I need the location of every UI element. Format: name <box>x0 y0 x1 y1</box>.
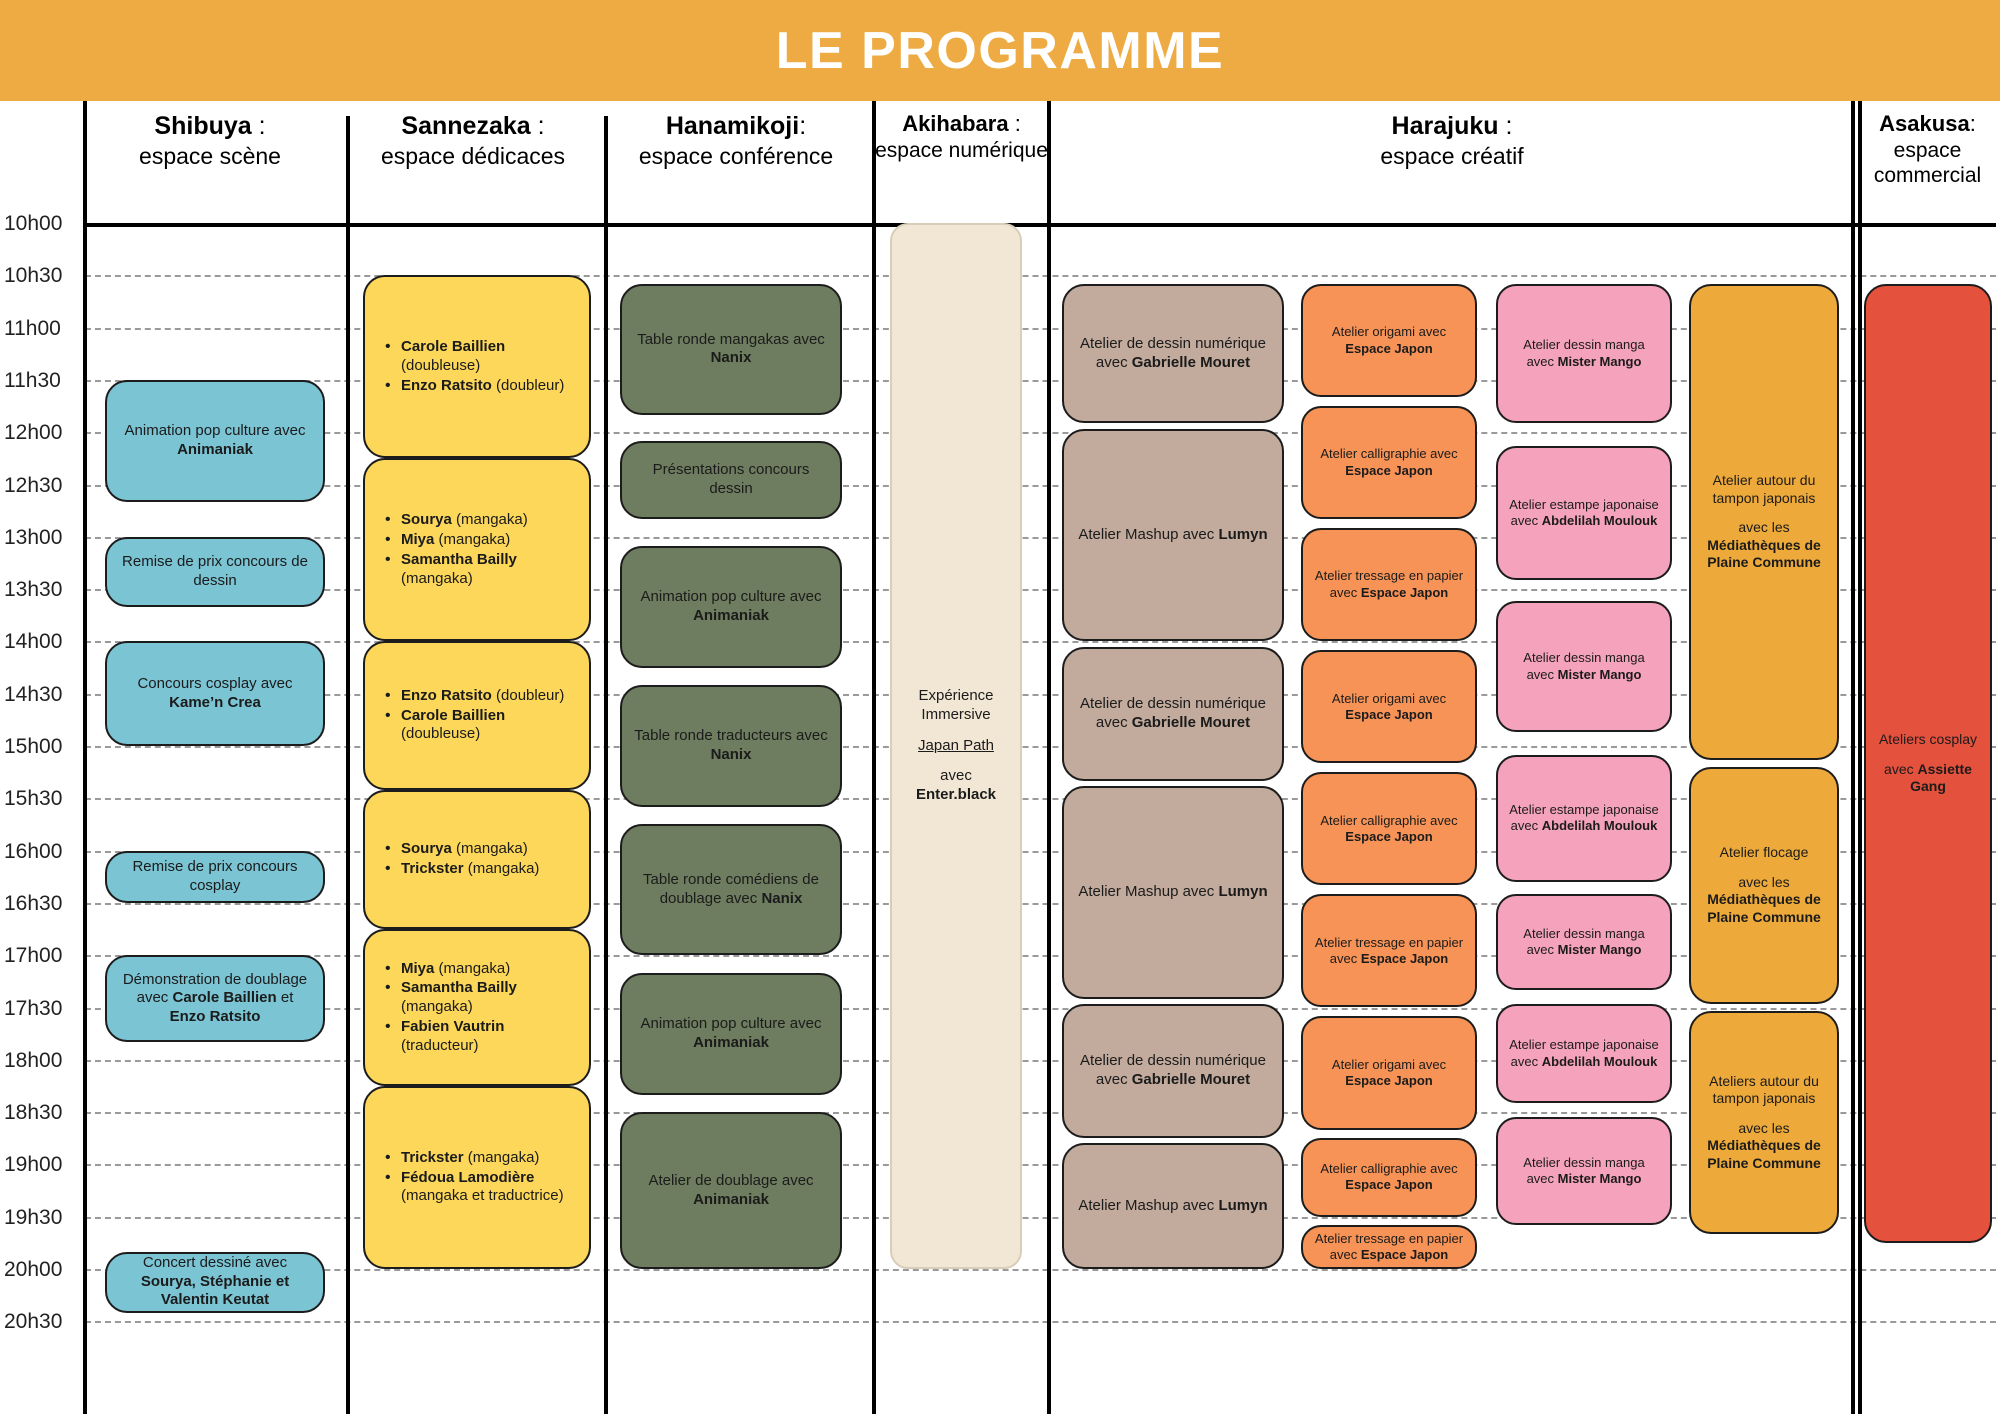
event-partner: Médiathèques de Plaine Commune <box>1701 537 1827 572</box>
guest-list: Miya (mangaka)Samantha Bailly (mangaka)F… <box>381 959 579 1057</box>
event-sannezaka-2[interactable]: Enzo Ratsito (doubleur)Carole Baillien (… <box>363 641 591 789</box>
list-item: Fédoua Lamodière(mangaka et traductrice) <box>381 1169 564 1207</box>
event-text: Atelier origami avec Espace Japon <box>1313 324 1465 357</box>
time-label-19h00: 19h00 <box>4 1153 82 1177</box>
gridline-10h30 <box>85 275 1996 277</box>
event-with: avec les <box>1738 874 1789 892</box>
event-hanamikoji-4[interactable]: Table ronde comédiens de doublage avec N… <box>620 824 842 955</box>
column-name-asakusa: Asakusa: <box>1879 111 1976 138</box>
event-sannezaka-4[interactable]: Miya (mangaka)Samantha Bailly (mangaka)F… <box>363 929 591 1086</box>
guest-list: Sourya (mangaka)Miya (mangaka)Samantha B… <box>381 510 579 589</box>
guest-list: Enzo Ratsito (doubleur)Carole Baillien (… <box>381 686 579 745</box>
guest-list: Sourya (mangaka)Trickster (mangaka) <box>381 839 539 880</box>
event-hanamikoji-2[interactable]: Animation pop culture avec Animaniak <box>620 546 842 668</box>
guest-list: Trickster (mangaka)Fédoua Lamodière(mang… <box>381 1148 564 1207</box>
event-harajuku-tampon-1[interactable]: Atelier flocageavec lesMédiathèques de P… <box>1689 767 1839 1004</box>
event-text: Table ronde traducteurs avec Nanix <box>632 727 830 765</box>
time-label-20h30: 20h30 <box>4 1310 82 1334</box>
time-label-18h00: 18h00 <box>4 1049 82 1073</box>
event-text: Atelier estampe japonaise avec Abdelilah… <box>1508 802 1660 835</box>
event-harajuku-espacejapon-1[interactable]: Atelier calligraphie avec Espace Japon <box>1301 406 1477 519</box>
time-label-19h30: 19h30 <box>4 1206 82 1230</box>
event-harajuku-manga-1[interactable]: Atelier estampe japonaise avec Abdelilah… <box>1496 446 1672 580</box>
event-text: Atelier dessin manga avec Mister Mango <box>1508 1155 1660 1188</box>
event-with: avec les <box>1738 1120 1789 1138</box>
column-header-asakusa: Asakusa:espace commercial <box>1855 101 2000 223</box>
event-sannezaka-3[interactable]: Sourya (mangaka)Trickster (mangaka) <box>363 790 591 929</box>
time-label-14h30: 14h30 <box>4 683 82 707</box>
event-harajuku-espacejapon-5[interactable]: Atelier tressage en papier avec Espace J… <box>1301 894 1477 1007</box>
column-subtitle-akihabara: espace numérique <box>875 138 1048 164</box>
time-label-15h00: 15h00 <box>4 735 82 759</box>
column-headers: Shibuya :espace scèneSannezaka :espace d… <box>0 101 2000 223</box>
event-hanamikoji-3[interactable]: Table ronde traducteurs avec Nanix <box>620 685 842 807</box>
event-harajuku-mashup-3[interactable]: Atelier Mashup avec Lumyn <box>1062 786 1284 999</box>
event-text: Atelier de dessin numérique avec Gabriel… <box>1074 1052 1272 1090</box>
event-text: Démonstration de doublage avec Carole Ba… <box>117 971 313 1027</box>
event-text: Atelier calligraphie avec Espace Japon <box>1313 1161 1465 1194</box>
event-text: Présentations concours dessin <box>632 461 830 499</box>
time-label-11h30: 11h30 <box>4 369 82 393</box>
column-header-sannezaka: Sannezaka :espace dédicaces <box>348 101 598 223</box>
event-sannezaka-0[interactable]: Carole Baillien (doubleuse)Enzo Ratsito … <box>363 275 591 458</box>
event-text: Animation pop culture avec Animaniak <box>632 1015 830 1053</box>
event-partner: Médiathèques de Plaine Commune <box>1701 1137 1827 1172</box>
event-text: Atelier Mashup avec Lumyn <box>1078 883 1267 902</box>
event-title: ExpérienceImmersive <box>918 687 993 725</box>
column-name-harajuku: Harajuku : <box>1392 111 1513 142</box>
list-item: Trickster (mangaka) <box>381 860 539 879</box>
list-item: Samantha Bailly (mangaka) <box>381 551 579 589</box>
event-harajuku-espacejapon-6[interactable]: Atelier origami avec Espace Japon <box>1301 1016 1477 1129</box>
time-label-13h00: 13h00 <box>4 526 82 550</box>
event-shibuya-2[interactable]: Concours cosplay avec Kame’n Crea <box>105 641 325 746</box>
time-label-10h00: 10h00 <box>4 212 82 236</box>
event-text: Atelier de dessin numérique avec Gabriel… <box>1074 335 1272 373</box>
event-with: avec les <box>1738 519 1789 537</box>
event-harajuku-espacejapon-7[interactable]: Atelier calligraphie avec Espace Japon <box>1301 1138 1477 1216</box>
list-item: Carole Baillien (doubleuse) <box>381 338 579 376</box>
event-title: Atelier flocage <box>1720 844 1809 862</box>
column-header-hanamikoji: Hanamikoji:espace conférence <box>606 101 866 223</box>
event-text: Animation pop culture avec Animaniak <box>632 588 830 626</box>
event-text: Atelier Mashup avec Lumyn <box>1078 1197 1267 1216</box>
event-text: Atelier tressage en papier avec Espace J… <box>1313 568 1465 601</box>
guest-list: Carole Baillien (doubleuse)Enzo Ratsito … <box>381 337 579 396</box>
event-title: Atelier autour du tampon japonais <box>1701 472 1827 507</box>
time-label-14h00: 14h00 <box>4 630 82 654</box>
schedule-grid: 10h0010h3011h0011h3012h0012h3013h0013h30… <box>0 223 2000 1414</box>
event-text: Atelier dessin manga avec Mister Mango <box>1508 650 1660 683</box>
column-separator-3 <box>872 101 876 1414</box>
event-text: Remise de prix concours de dessin <box>117 553 313 591</box>
event-harajuku-manga-3[interactable]: Atelier estampe japonaise avec Abdelilah… <box>1496 755 1672 882</box>
event-asakusa-cosplay[interactable]: Ateliers cosplayavec Assiette Gang <box>1864 284 1992 1243</box>
event-text: Atelier calligraphie avec Espace Japon <box>1313 813 1465 846</box>
column-subtitle-hanamikoji: espace conférence <box>639 142 833 170</box>
list-item: Sourya (mangaka) <box>381 840 539 859</box>
event-title: Ateliers cosplay <box>1879 731 1977 749</box>
event-hanamikoji-0[interactable]: Table ronde mangakas avec Nanix <box>620 284 842 415</box>
event-harajuku-mashup-2[interactable]: Atelier de dessin numérique avec Gabriel… <box>1062 647 1284 781</box>
column-subtitle-sannezaka: espace dédicaces <box>381 142 565 170</box>
programme-page: LE PROGRAMME Shibuya :espace scèneSannez… <box>0 0 2000 1414</box>
event-harajuku-mashup-5[interactable]: Atelier Mashup avec Lumyn <box>1062 1143 1284 1269</box>
event-text: Atelier origami avec Espace Japon <box>1313 1057 1465 1090</box>
event-text: Table ronde comédiens de doublage avec N… <box>632 871 830 909</box>
column-name-sannezaka: Sannezaka : <box>401 111 544 142</box>
event-partner: avec Assiette Gang <box>1876 761 1980 796</box>
column-name-shibuya: Shibuya : <box>154 111 265 142</box>
time-label-10h30: 10h30 <box>4 264 82 288</box>
page-banner: LE PROGRAMME <box>0 0 2000 101</box>
event-harajuku-manga-0[interactable]: Atelier dessin manga avec Mister Mango <box>1496 284 1672 423</box>
column-separator-0 <box>83 101 87 1414</box>
list-item: Carole Baillien (doubleuse) <box>381 707 579 745</box>
event-partner: Médiathèques de Plaine Commune <box>1701 891 1827 926</box>
event-text: Atelier origami avec Espace Japon <box>1313 691 1465 724</box>
list-item: Sourya (mangaka) <box>381 511 579 530</box>
event-harajuku-tampon-0[interactable]: Atelier autour du tampon japonaisavec le… <box>1689 284 1839 760</box>
column-separator-5 <box>1851 101 1855 1414</box>
time-label-18h30: 18h30 <box>4 1101 82 1125</box>
event-text: Atelier estampe japonaise avec Abdelilah… <box>1508 497 1660 530</box>
time-label-17h30: 17h30 <box>4 997 82 1021</box>
list-item: Trickster (mangaka) <box>381 1149 564 1168</box>
time-label-13h30: 13h30 <box>4 578 82 602</box>
event-text: Atelier de dessin numérique avec Gabriel… <box>1074 695 1272 733</box>
event-shibuya-5[interactable]: Concert dessiné avec Sourya, Stéphanie e… <box>105 1252 325 1313</box>
event-harajuku-mashup-1[interactable]: Atelier Mashup avec Lumyn <box>1062 429 1284 642</box>
event-harajuku-manga-4[interactable]: Atelier dessin manga avec Mister Mango <box>1496 894 1672 990</box>
event-harajuku-manga-6[interactable]: Atelier dessin manga avec Mister Mango <box>1496 1117 1672 1225</box>
time-label-17h00: 17h00 <box>4 944 82 968</box>
event-text: Atelier calligraphie avec Espace Japon <box>1313 446 1465 479</box>
event-harajuku-manga-5[interactable]: Atelier estampe japonaise avec Abdelilah… <box>1496 1004 1672 1103</box>
event-hanamikoji-6[interactable]: Atelier de doublage avec Animaniak <box>620 1112 842 1269</box>
column-header-shibuya: Shibuya :espace scène <box>85 101 335 223</box>
event-harajuku-tampon-2[interactable]: Ateliers autour du tampon japonaisavec l… <box>1689 1011 1839 1234</box>
time-label-16h00: 16h00 <box>4 840 82 864</box>
list-item: Enzo Ratsito (doubleur) <box>381 377 579 396</box>
column-subtitle-harajuku: espace créatif <box>1380 142 1523 170</box>
column-header-harajuku: Harajuku :espace créatif <box>1057 101 1847 223</box>
column-separator-2 <box>604 116 608 1414</box>
event-harajuku-espacejapon-4[interactable]: Atelier calligraphie avec Espace Japon <box>1301 772 1477 885</box>
gridline-20h30 <box>85 1321 1996 1323</box>
column-name-akihabara: Akihabara : <box>902 111 1021 138</box>
event-partner: avec Enter.black <box>902 767 1010 805</box>
column-separator-6 <box>1858 101 1862 1414</box>
event-text: Concert dessiné avec Sourya, Stéphanie e… <box>117 1254 313 1310</box>
event-shibuya-0[interactable]: Animation pop culture avec Animaniak <box>105 380 325 502</box>
event-text: Atelier tressage en papier avec Espace J… <box>1313 935 1465 968</box>
time-label-20h00: 20h00 <box>4 1258 82 1282</box>
event-harajuku-espacejapon-0[interactable]: Atelier origami avec Espace Japon <box>1301 284 1477 397</box>
list-item: Enzo Ratsito (doubleur) <box>381 687 579 706</box>
event-sannezaka-5[interactable]: Trickster (mangaka)Fédoua Lamodière(mang… <box>363 1086 591 1269</box>
event-sannezaka-1[interactable]: Sourya (mangaka)Miya (mangaka)Samantha B… <box>363 458 591 641</box>
column-name-hanamikoji: Hanamikoji: <box>666 111 806 142</box>
event-text: Concours cosplay avec Kame’n Crea <box>117 675 313 713</box>
page-title: LE PROGRAMME <box>776 21 1224 81</box>
event-text: Atelier Mashup avec Lumyn <box>1078 526 1267 545</box>
list-item: Fabien Vautrin (traducteur) <box>381 1018 579 1056</box>
event-text: Atelier dessin manga avec Mister Mango <box>1508 337 1660 370</box>
event-harajuku-mashup-4[interactable]: Atelier de dessin numérique avec Gabriel… <box>1062 1004 1284 1138</box>
time-label-12h30: 12h30 <box>4 474 82 498</box>
event-akihabara-immersive[interactable]: ExpérienceImmersiveJapan Pathavec Enter.… <box>890 223 1022 1269</box>
event-hanamikoji-5[interactable]: Animation pop culture avec Animaniak <box>620 973 842 1095</box>
japan-path-link[interactable]: Japan Path <box>918 737 994 756</box>
column-separator-4 <box>1047 101 1051 1414</box>
gridline-20h00 <box>85 1269 1996 1271</box>
column-subtitle-shibuya: espace scène <box>139 142 281 170</box>
column-header-akihabara: Akihabara :espace numérique <box>874 101 1049 223</box>
list-item: Miya (mangaka) <box>381 531 579 550</box>
column-separator-1 <box>346 116 350 1414</box>
event-text: Table ronde mangakas avec Nanix <box>632 331 830 369</box>
event-text: Atelier estampe japonaise avec Abdelilah… <box>1508 1037 1660 1070</box>
time-label-16h30: 16h30 <box>4 892 82 916</box>
event-harajuku-espacejapon-8[interactable]: Atelier tressage en papier avec Espace J… <box>1301 1225 1477 1269</box>
time-label-15h30: 15h30 <box>4 787 82 811</box>
event-harajuku-espacejapon-3[interactable]: Atelier origami avec Espace Japon <box>1301 650 1477 763</box>
event-shibuya-1[interactable]: Remise de prix concours de dessin <box>105 537 325 607</box>
time-label-11h00: 11h00 <box>4 317 82 341</box>
time-label-12h00: 12h00 <box>4 421 82 445</box>
event-shibuya-3[interactable]: Remise de prix concours cosplay <box>105 851 325 903</box>
event-title: Ateliers autour du tampon japonais <box>1701 1073 1827 1108</box>
event-harajuku-manga-2[interactable]: Atelier dessin manga avec Mister Mango <box>1496 601 1672 732</box>
event-text: Animation pop culture avec Animaniak <box>117 422 313 460</box>
column-subtitle-asakusa: espace commercial <box>1855 138 2000 189</box>
event-hanamikoji-1[interactable]: Présentations concours dessin <box>620 441 842 519</box>
event-shibuya-4[interactable]: Démonstration de doublage avec Carole Ba… <box>105 955 325 1042</box>
event-text: Atelier tressage en papier avec Espace J… <box>1313 1231 1465 1264</box>
event-text: Atelier de doublage avec Animaniak <box>632 1172 830 1210</box>
event-harajuku-mashup-0[interactable]: Atelier de dessin numérique avec Gabriel… <box>1062 284 1284 423</box>
event-text: Atelier dessin manga avec Mister Mango <box>1508 926 1660 959</box>
list-item: Miya (mangaka) <box>381 960 579 979</box>
event-harajuku-espacejapon-2[interactable]: Atelier tressage en papier avec Espace J… <box>1301 528 1477 641</box>
gridline-10h00 <box>85 223 1996 227</box>
event-text: Remise de prix concours cosplay <box>117 858 313 896</box>
list-item: Samantha Bailly (mangaka) <box>381 979 579 1017</box>
